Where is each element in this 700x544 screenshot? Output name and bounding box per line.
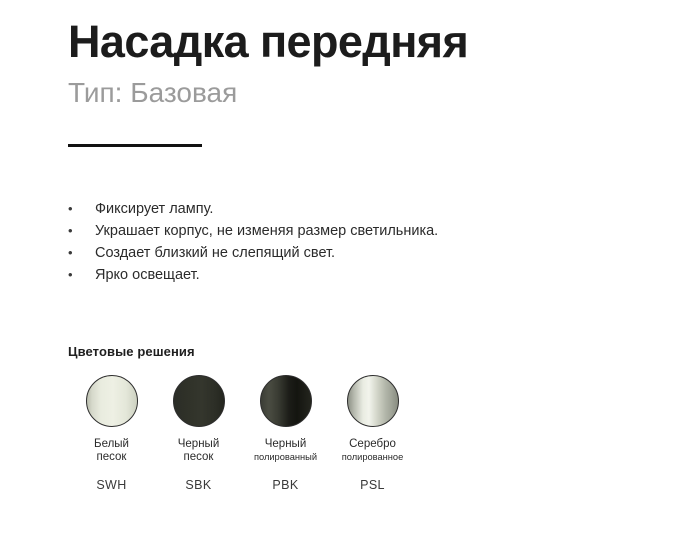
feature-item: •Украшает корпус, не изменяя размер свет… (68, 220, 628, 242)
feature-item-text: Создает близкий не слепящий свет. (95, 242, 335, 264)
bullet-icon: • (68, 264, 95, 286)
feature-item-text: Украшает корпус, не изменяя размер свети… (95, 220, 438, 242)
color-swatch-dot[interactable] (260, 375, 312, 427)
feature-list: •Фиксирует лампу.•Украшает корпус, не из… (68, 198, 628, 286)
feature-item: •Ярко освещает. (68, 264, 628, 286)
color-swatch-black-sand[interactable]: ЧерныйпесокSBK (155, 375, 242, 492)
color-swatch-name-line2: полированное (329, 451, 416, 464)
color-swatch-name-line1: Черный (242, 438, 329, 451)
colors-heading: Цветовые решения (68, 344, 195, 359)
color-swatch-code: PBK (272, 478, 298, 492)
feature-item: •Фиксирует лампу. (68, 198, 628, 220)
feature-item-text: Ярко освещает. (95, 264, 200, 286)
color-swatch-dot[interactable] (86, 375, 138, 427)
page-title: Насадка передняя (68, 18, 668, 66)
color-swatch-name: Сереброполированное (329, 438, 416, 464)
color-swatch-name: Черныйпесок (155, 438, 242, 464)
color-swatch-name-line1: Белый (68, 438, 155, 451)
color-swatch-code: PSL (360, 478, 385, 492)
color-swatch-name-line1: Черный (155, 438, 242, 451)
color-swatch-name-line1: Серебро (329, 438, 416, 451)
color-swatch-name-line2: песок (155, 451, 242, 464)
bullet-icon: • (68, 242, 95, 264)
color-swatch-name-line2: полированный (242, 451, 329, 464)
color-swatch-white-sand[interactable]: БелыйпесокSWH (68, 375, 155, 492)
color-swatch-code: SWH (96, 478, 126, 492)
color-swatch-name-line2: песок (68, 451, 155, 464)
header-divider (68, 144, 202, 147)
header: Насадка передняя Тип: Базовая (68, 18, 668, 108)
color-swatch-dot[interactable] (347, 375, 399, 427)
product-spec-page: Насадка передняя Тип: Базовая •Фиксирует… (0, 0, 700, 544)
color-swatch-name: Черныйполированный (242, 438, 329, 464)
color-swatch-black-polished[interactable]: ЧерныйполированныйPBK (242, 375, 329, 492)
feature-item-text: Фиксирует лампу. (95, 198, 213, 220)
page-subtitle: Тип: Базовая (68, 78, 668, 109)
color-swatch-list: БелыйпесокSWHЧерныйпесокSBKЧерныйполиров… (68, 375, 416, 492)
color-swatch-name: Белыйпесок (68, 438, 155, 464)
bullet-icon: • (68, 220, 95, 242)
color-swatch-code: SBK (185, 478, 211, 492)
bullet-icon: • (68, 198, 95, 220)
feature-item: •Создает близкий не слепящий свет. (68, 242, 628, 264)
color-swatch-dot[interactable] (173, 375, 225, 427)
color-swatch-silver-polished[interactable]: СереброполированноеPSL (329, 375, 416, 492)
